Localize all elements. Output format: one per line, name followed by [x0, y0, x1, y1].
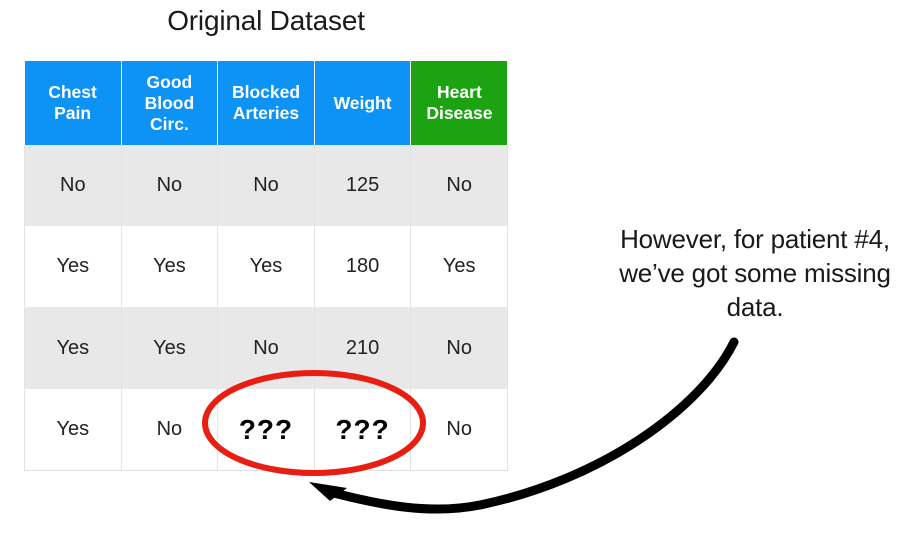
column-header-chest-pain: Chest Pain	[25, 61, 122, 145]
cell-weight: 210	[314, 308, 411, 390]
cell-heart-disease: No	[411, 389, 508, 471]
cell-chest-pain: Yes	[25, 226, 122, 308]
cell-blocked-arteries: No	[218, 145, 315, 226]
cell-blocked-arteries: Yes	[218, 226, 315, 308]
column-header-blocked-arteries: Blocked Arteries	[218, 61, 315, 145]
cell-good-blood-circ: Yes	[121, 226, 218, 308]
callout-arrowhead	[309, 482, 347, 501]
cell-good-blood-circ: Yes	[121, 308, 218, 390]
cell-weight: 125	[314, 145, 411, 226]
callout-annotation-text: However, for patient #4, we’ve got some …	[600, 222, 910, 324]
cell-good-blood-circ: No	[121, 145, 218, 226]
original-dataset-table: Chest Pain Good Blood Circ. Blocked Arte…	[24, 61, 508, 471]
column-header-good-blood-circ: Good Blood Circ.	[121, 61, 218, 145]
cell-heart-disease: No	[411, 145, 508, 226]
cell-heart-disease: Yes	[411, 226, 508, 308]
cell-blocked-arteries: No	[218, 308, 315, 390]
cell-blocked-arteries-missing: ???	[218, 389, 315, 471]
slide-canvas: Original Dataset Chest Pain Good Blood C…	[0, 0, 913, 538]
cell-good-blood-circ: No	[121, 389, 218, 471]
column-header-heart-disease: Heart Disease	[411, 61, 508, 145]
cell-weight: 180	[314, 226, 411, 308]
cell-heart-disease: No	[411, 308, 508, 390]
table-row: No No No 125 No	[25, 145, 508, 226]
cell-chest-pain: Yes	[25, 389, 122, 471]
table-row: Yes No ??? ??? No	[25, 389, 508, 471]
cell-weight-missing: ???	[314, 389, 411, 471]
column-header-weight: Weight	[314, 61, 411, 145]
table-row: Yes Yes No 210 No	[25, 308, 508, 390]
table-row: Yes Yes Yes 180 Yes	[25, 226, 508, 308]
table-header-row: Chest Pain Good Blood Circ. Blocked Arte…	[25, 61, 508, 145]
cell-chest-pain: Yes	[25, 308, 122, 390]
cell-chest-pain: No	[25, 145, 122, 226]
page-title: Original Dataset	[24, 4, 508, 38]
